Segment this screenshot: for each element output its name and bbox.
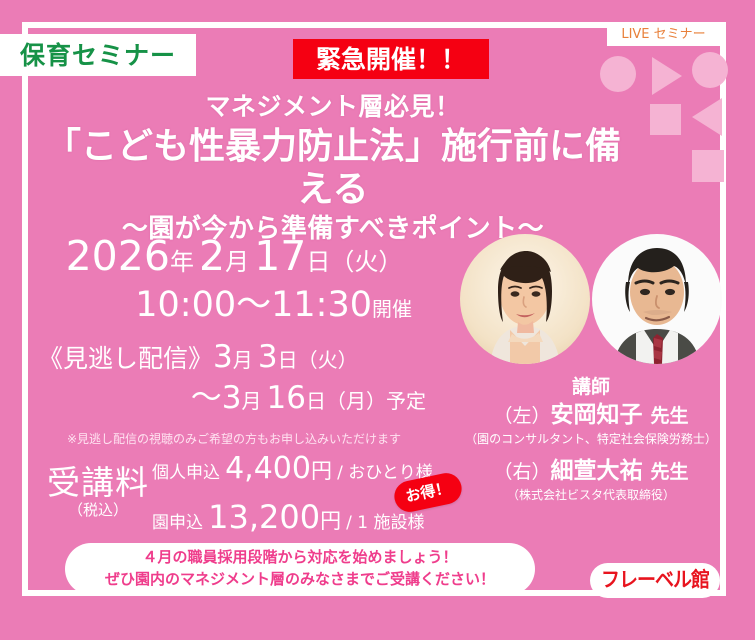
archive-end-month: 3 <box>222 380 242 416</box>
headline-line-2: 「こども性暴力防止法」施行前に備える <box>28 125 638 211</box>
speakers-title: 講師 <box>452 376 730 400</box>
archive-end-day: 16 <box>267 380 306 416</box>
deco-square-1 <box>650 104 681 135</box>
speaker-2-honorific: 先生 <box>651 461 689 483</box>
seminar-poster: 保育セミナー 緊急開催！！ LIVE セミナー マネジメント層必見！ 「こども性… <box>0 0 755 640</box>
speaker-photo-right <box>592 234 722 364</box>
seminar-category-label: 保育セミナー <box>20 43 176 68</box>
deco-circle-2 <box>692 52 728 88</box>
seminar-category-tag: 保育セミナー <box>0 34 196 76</box>
event-time: 10:00〜11:30 <box>135 285 372 325</box>
speaker-left-avatar <box>460 234 590 364</box>
speaker-1-position: （左） <box>493 405 550 427</box>
archive-end-row: 〜3月 16日（月）予定 <box>34 383 434 414</box>
archive-start-month: 3 <box>213 339 233 375</box>
speaker-right-avatar <box>592 234 722 364</box>
cta-banner: ４月の職員採用段階から対応を始めましょう！ ぜひ園内のマネジメント層のみなさまで… <box>65 543 535 595</box>
pricing-row-2-amount: 13,200 <box>208 498 320 536</box>
archive-start-day-unit: 日 <box>278 348 298 372</box>
pricing-row-1-yen: 円 <box>311 459 332 483</box>
speaker-1-role: （園のコンサルタント、特定社会保険労務士） <box>452 432 730 448</box>
speaker-1-name: 安岡知子 <box>550 402 642 428</box>
event-weekday: （火） <box>330 248 402 276</box>
cta-line-2: ぜひ園内のマネジメント層のみなさまでご受講ください！ <box>105 569 495 591</box>
value-badge-label: お得！ <box>404 480 451 504</box>
pricing-row-2-yen: 円 <box>320 509 341 533</box>
archive-end-prefix: 〜 <box>191 380 222 416</box>
headline-line-1: マネジメント層必見！ <box>28 92 638 123</box>
event-day: 17 <box>254 232 306 280</box>
pricing-row-1-amount: 4,400 <box>225 451 311 486</box>
speaker-name-row-2: （右）細萱大祐 先生 <box>452 457 730 487</box>
archive-start-day: 3 <box>258 339 278 375</box>
archive-label: 《見逃し配信》 <box>38 344 213 373</box>
urgent-badge-label: 緊急開催！！ <box>316 47 466 72</box>
archive-end-suffix: 予定 <box>386 389 426 413</box>
speaker-2-name: 細萱大祐 <box>550 458 642 484</box>
speakers-block: 講師 （左）安岡知子 先生 （園のコンサルタント、特定社会保険労務士） （右）細… <box>452 376 730 504</box>
speakers-spacer <box>452 447 730 456</box>
archive-start-weekday: （火） <box>298 348 358 372</box>
publisher-logo-label: フレーベル館 <box>601 570 709 591</box>
live-seminar-tag: LIVE セミナー <box>607 22 720 46</box>
deco-square-2 <box>692 150 724 182</box>
archive-end-weekday: （月） <box>326 389 386 413</box>
deco-circle-1 <box>600 56 636 92</box>
cta-line-1: ４月の職員採用段階から対応を始めましょう！ <box>142 547 457 569</box>
pricing-row-2-kind: 園申込 <box>152 513 203 533</box>
event-time-row: 10:00〜11:30開催 <box>34 288 434 323</box>
pricing-row-2-unit: / 1 施設様 <box>346 513 424 533</box>
speaker-1-honorific: 先生 <box>651 405 689 427</box>
headline-block: マネジメント層必見！ 「こども性暴力防止法」施行前に備える 〜園が今から準備すべ… <box>28 92 638 245</box>
archive-start-row: 《見逃し配信》3月 3日（火） <box>34 342 434 373</box>
speaker-name-row-1: （左）安岡知子 先生 <box>452 401 730 431</box>
deco-triangle-left <box>692 98 722 136</box>
pricing-row-1-kind: 個人申込 <box>152 463 220 483</box>
event-date-row: 2026年 2月 17日（火） <box>34 236 434 277</box>
event-year-unit: 年 <box>170 248 194 276</box>
live-seminar-label: LIVE セミナー <box>621 28 705 41</box>
schedule-block: 2026年 2月 17日（火） 10:00〜11:30開催 《見逃し配信》3月 … <box>34 236 434 447</box>
publisher-logo: フレーベル館 <box>590 563 720 598</box>
event-month-unit: 月 <box>225 248 249 276</box>
pricing-label: 受講料 （税込） <box>42 466 154 518</box>
speaker-2-position: （右） <box>493 461 550 483</box>
pricing-label-sub: （税込） <box>42 503 154 518</box>
event-time-suffix: 開催 <box>372 297 412 321</box>
deco-triangle-right <box>652 57 682 95</box>
archive-start-month-unit: 月 <box>233 348 253 372</box>
speaker-photo-left <box>460 234 590 364</box>
event-year: 2026 <box>66 232 170 280</box>
urgent-badge: 緊急開催！！ <box>293 39 489 79</box>
event-day-unit: 日 <box>306 248 330 276</box>
pricing-label-main: 受講料 <box>42 466 154 499</box>
archive-note: ※見逃し配信の視聴のみご希望の方もお申し込みいただけます <box>34 430 434 447</box>
event-month: 2 <box>199 232 225 280</box>
speaker-2-role: （株式会社ビスタ代表取締役） <box>452 488 730 504</box>
archive-end-day-unit: 日 <box>306 389 326 413</box>
archive-end-month-unit: 月 <box>241 389 261 413</box>
